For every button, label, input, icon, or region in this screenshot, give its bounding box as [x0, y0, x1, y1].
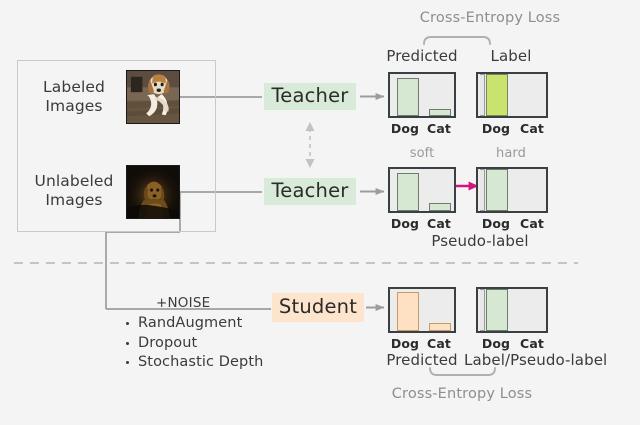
chart-student-target-axis: Dog Cat — [478, 336, 550, 351]
golden-retriever-photo-icon — [127, 166, 179, 218]
bar-cat — [429, 109, 451, 116]
teacher-sync-double-arrow — [306, 122, 315, 168]
chart-student-predicted-title: Predicted — [381, 351, 463, 369]
chart-teacher-predicted-frame — [388, 72, 456, 118]
teacher-model-labeled[interactable]: Teacher — [264, 83, 356, 110]
axis-tick-cat: Cat — [422, 336, 456, 351]
bar-dog — [486, 74, 508, 116]
student-model-label: Student — [279, 295, 357, 318]
unlabeled-image-thumbnail — [126, 165, 180, 219]
axis-tick-cat: Cat — [514, 121, 550, 136]
teacher-model-unlabeled-label: Teacher — [271, 179, 348, 202]
student-model[interactable]: Student — [272, 293, 364, 322]
chart-hard-pseudo-label-axis: Dog Cat — [478, 216, 550, 231]
chart-ground-truth-label-axis: Dog Cat — [478, 121, 550, 136]
chart-soft-pseudo-label-title: soft — [384, 146, 460, 161]
chart-student-target-frame — [476, 287, 548, 333]
chart-student-predicted-axis: Dog Cat — [388, 336, 456, 351]
labeled-images-label-line2: Images — [24, 97, 124, 116]
diagram-canvas: Labeled Images Unlabeled Images — [0, 0, 640, 425]
chart-ground-truth-label-frame — [476, 72, 548, 118]
chart-student-predicted-frame — [388, 287, 456, 333]
chart-hard-pseudo-label-title: hard — [476, 146, 546, 161]
axis-tick-dog: Dog — [388, 121, 422, 136]
axis-tick-dog: Dog — [478, 336, 514, 351]
chart-hard-pseudo-label-frame — [476, 167, 548, 213]
bar-dog — [397, 78, 419, 116]
axis-tick-dog: Dog — [388, 216, 422, 231]
chart-teacher-predicted-title: Predicted — [384, 47, 460, 65]
noise-header: +NOISE — [156, 295, 210, 311]
beagle-photo-icon — [127, 71, 179, 123]
bar-dog — [397, 173, 419, 211]
chart-teacher-predicted-axis: Dog Cat — [388, 121, 456, 136]
labeled-images-label-line1: Labeled — [24, 78, 124, 97]
unlabeled-images-label-line2: Images — [18, 191, 130, 210]
chart-soft-pseudo-label-frame — [388, 167, 456, 213]
bar-dog — [486, 169, 508, 211]
axis-tick-cat: Cat — [422, 121, 456, 136]
cross-entropy-loss-bottom: Cross-Entropy Loss — [362, 386, 562, 402]
bar-dog — [397, 292, 419, 331]
chart-student-target-title: Label/Pseudo-label — [464, 351, 564, 369]
unlabeled-images-label-line1: Unlabeled — [18, 172, 130, 191]
axis-tick-cat: Cat — [514, 216, 550, 231]
unlabeled-images-label: Unlabeled Images — [18, 172, 130, 210]
chart-ground-truth-label-title: Label — [476, 47, 546, 65]
bar-axis-tick — [480, 169, 485, 211]
axis-tick-dog: Dog — [478, 121, 514, 136]
pseudo-label-caption: Pseudo-label — [400, 232, 560, 250]
list-item: RandAugment — [120, 314, 263, 334]
bar-cat — [429, 323, 451, 331]
labeled-images-label: Labeled Images — [24, 78, 124, 116]
teacher-model-unlabeled[interactable]: Teacher — [264, 178, 356, 205]
teacher-model-labeled-label: Teacher — [271, 84, 348, 107]
axis-tick-cat: Cat — [422, 216, 456, 231]
bar-axis-tick — [480, 289, 485, 331]
chart-soft-pseudo-label-axis: Dog Cat — [388, 216, 456, 231]
loss-bracket-top — [424, 37, 490, 44]
bar-axis-tick — [480, 74, 485, 116]
axis-tick-dog: Dog — [388, 336, 422, 351]
noise-list: RandAugment Dropout Stochastic Depth — [120, 314, 263, 373]
axis-tick-dog: Dog — [478, 216, 514, 231]
bar-dog — [486, 289, 508, 331]
axis-tick-cat: Cat — [514, 336, 550, 351]
cross-entropy-loss-top: Cross-Entropy Loss — [390, 10, 590, 26]
bar-cat — [429, 203, 451, 211]
labeled-image-thumbnail — [126, 70, 180, 124]
loss-bracket-bottom — [430, 368, 495, 375]
list-item: Dropout — [120, 334, 263, 354]
list-item: Stochastic Depth — [120, 353, 263, 373]
